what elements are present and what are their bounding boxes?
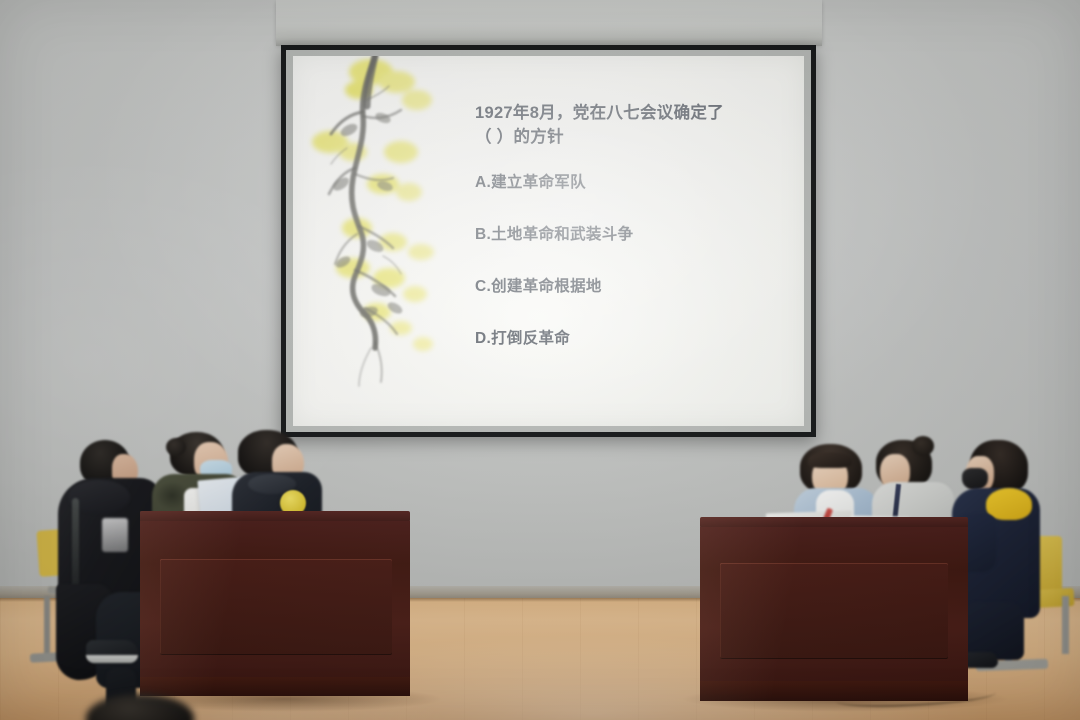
ink-branch-ginkgo-artwork <box>297 56 467 426</box>
student-right-2-hair-bun <box>912 436 934 456</box>
slide-text-block: 1927年8月，党在八七会议确定了 （ ）的方针 A.建立革命军队 B.土地革命… <box>475 102 792 348</box>
presentation-slide: 1927年8月，党在八七会议确定了 （ ）的方针 A.建立革命军队 B.土地革命… <box>293 56 804 426</box>
option-d: D.打倒反革命 <box>475 326 792 348</box>
student-left-1-sneaker-sole <box>86 655 138 663</box>
left-podium-panel <box>160 559 392 655</box>
screen-mat: 1927年8月，党在八七会议确定了 （ ）的方针 A.建立革命军队 B.土地革命… <box>286 50 811 432</box>
chair-left-leg-1 <box>44 596 50 658</box>
chair-right-leg-2 <box>1062 596 1069 654</box>
option-a: A.建立革命军队 <box>475 170 792 192</box>
student-left-1-jacket-stripe <box>72 498 79 594</box>
projection-screen: 1927年8月，党在八七会议确定了 （ ）的方针 A.建立革命军队 B.土地革命… <box>281 45 816 437</box>
right-podium <box>700 517 968 701</box>
left-podium <box>140 511 410 696</box>
option-b: B.土地革命和武装斗争 <box>475 222 792 244</box>
classroom-debate-photo: 1927年8月，党在八七会议确定了 （ ）的方针 A.建立革命军队 B.土地革命… <box>0 0 1080 720</box>
question-line-2: （ ）的方针 <box>475 126 792 150</box>
projector-screen-housing <box>276 0 822 44</box>
slide-question: 1927年8月，党在八七会议确定了 （ ）的方针 <box>475 102 792 150</box>
left-podium-plinth <box>140 677 410 696</box>
right-podium-panel <box>720 563 948 659</box>
student-left-1-jacket-print <box>102 518 128 552</box>
student-right-3-yellow-hood <box>986 488 1032 520</box>
student-left-2-hair-bun <box>166 438 186 456</box>
question-line-1: 1927年8月，党在八七会议确定了 <box>475 104 724 122</box>
student-right-1-bangs <box>808 452 852 468</box>
option-c: C.创建革命根据地 <box>475 274 792 296</box>
slide-options-list: A.建立革命军队 B.土地革命和武装斗争 C.创建革命根据地 D.打倒反革命 <box>475 170 792 348</box>
right-podium-plinth <box>700 681 968 701</box>
student-right-3-face-mask <box>962 468 988 490</box>
